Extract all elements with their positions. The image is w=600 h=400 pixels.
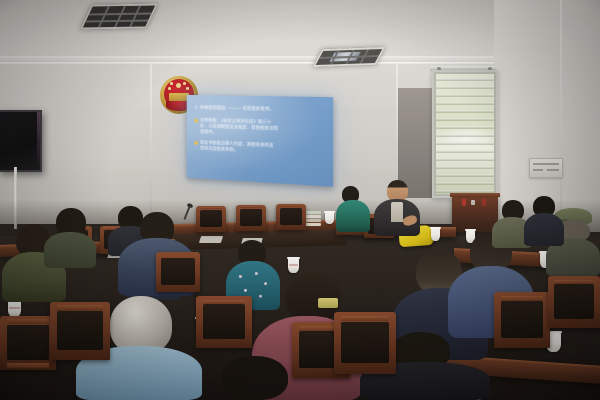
wall-mounted-tv: [0, 110, 42, 172]
meeting-room-photo: 2. 本协议的退出: ——— 可另签补充书。 法律依据：《农村土地承包法》第三十…: [0, 0, 600, 400]
placard-line-2: [533, 169, 543, 171]
ceiling-light-grille-left: [80, 3, 158, 29]
paper-cup: [8, 300, 21, 317]
projection-screen: 2. 本协议的退出: ——— 可另签补充书。 法律依据：《农村土地承包法》第三十…: [187, 95, 333, 187]
slide-bullet-1: 法律依据：《农村土地承包法》第三十 条、人民调解委员会规定、其他相关法院 受理中…: [195, 117, 325, 139]
paper-cup: [431, 228, 440, 241]
chair-empty[interactable]: [196, 206, 226, 232]
presenter-shirt: [391, 202, 403, 222]
wall-placard: [529, 158, 563, 178]
hair-clip: [318, 298, 338, 308]
chair-far-right[interactable]: [548, 276, 600, 328]
window-with-blinds: [432, 70, 498, 198]
placard-line-1: [533, 163, 559, 165]
ceiling-light-grille-right: [313, 47, 386, 67]
placard-line-3: [547, 169, 559, 171]
window-blinds[interactable]: [436, 74, 494, 194]
chair-mid-left[interactable]: [196, 296, 252, 348]
attendee-note-taker: [336, 186, 370, 232]
bullet-marker-icon: [195, 141, 198, 144]
paper-cup: [288, 258, 299, 273]
attendee-dark-hair-front: [44, 208, 96, 268]
bullet-marker-icon: [195, 119, 198, 122]
chair-mid-right[interactable]: [334, 312, 396, 374]
slide-bullet-2: 协议书依据当事人约定、其他有关的法 院判决及相关条款。: [195, 140, 325, 158]
chair-right[interactable]: [494, 292, 550, 348]
paper-sheet-1: [199, 236, 223, 243]
chair-row-left[interactable]: [156, 252, 200, 292]
chair-foreground-left[interactable]: [0, 316, 56, 370]
slide-content: 2. 本协议的退出: ——— 可另签补充书。 法律依据：《农村土地承包法》第三十…: [195, 105, 325, 163]
paper-cup: [325, 212, 334, 224]
chair-empty[interactable]: [236, 205, 266, 231]
chair-empty[interactable]: [276, 204, 306, 230]
chair-foreground-left-2[interactable]: [50, 302, 110, 360]
attendee-back-right-2: [524, 196, 564, 246]
slide-heading: 2. 本协议的退出: ——— 可另签补充书。: [195, 105, 325, 114]
presenter-speaker: [374, 180, 420, 236]
